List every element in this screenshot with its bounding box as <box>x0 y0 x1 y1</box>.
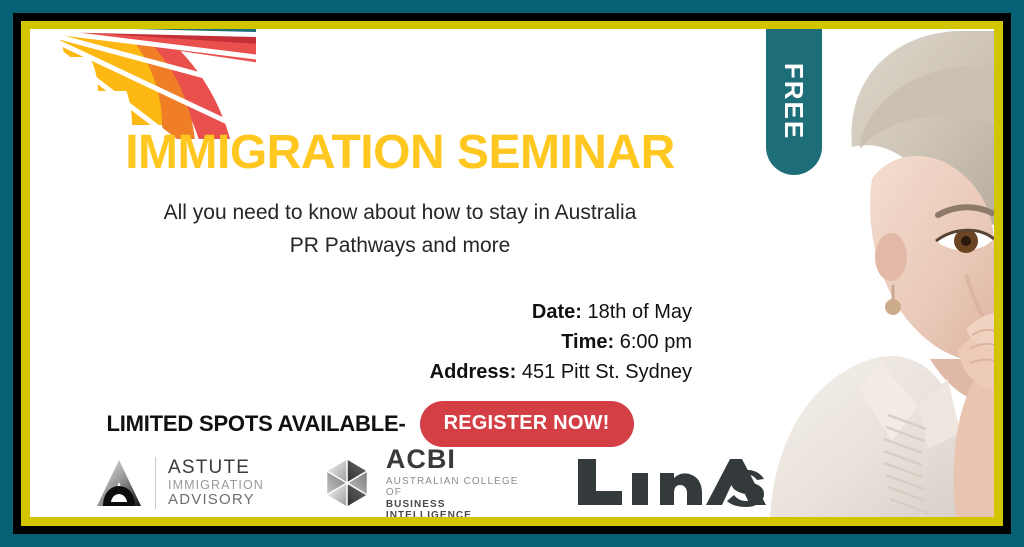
detail-row-address: Address: 451 Pitt St. Sydney <box>30 357 692 387</box>
free-badge-label: FREE <box>779 62 810 139</box>
event-details: Date: 18th of May Time: 6:00 pm Address:… <box>30 297 692 387</box>
detail-label-time: Time: <box>561 331 614 353</box>
poster-content: IMMIGRATION SEMINAR All you need to know… <box>30 29 770 517</box>
linas-wordmark <box>574 453 770 513</box>
poster-canvas: FREE IMMIGRATION SEMINAR All you need to… <box>30 29 994 517</box>
acbi-line-2: AUSTRALIAN COLLEGE OF <box>386 476 528 499</box>
acbi-hexagon-mark-icon <box>320 454 374 512</box>
detail-label-date: Date: <box>532 301 582 323</box>
subtitle: All you need to know about how to stay i… <box>30 197 770 262</box>
astute-wordmark: ASTUTE IMMIGRATION ADVISORY <box>155 457 264 509</box>
page-title: IMMIGRATION SEMINAR <box>30 129 770 177</box>
acbi-line-1: ACBI <box>386 444 528 475</box>
astute-line-1: ASTUTE <box>168 457 264 478</box>
astute-a-mark-icon <box>94 458 144 508</box>
detail-row-date: Date: 18th of May <box>30 297 692 327</box>
detail-value-date: 18th of May <box>587 301 692 323</box>
logo-linas <box>574 453 770 513</box>
subtitle-line-2: PR Pathways and more <box>30 230 770 263</box>
detail-label-address: Address: <box>430 361 517 383</box>
limited-spots-text: LIMITED SPOTS AVAILABLE- <box>106 411 405 437</box>
cta-row: LIMITED SPOTS AVAILABLE- REGISTER NOW! <box>30 401 710 447</box>
acbi-wordmark: ACBI AUSTRALIAN COLLEGE OF BUSINESS INTE… <box>386 444 528 517</box>
astute-line-3: ADVISORY <box>168 492 264 509</box>
linas-logotype-icon <box>574 453 770 509</box>
partner-logos: ASTUTE IMMIGRATION ADVISORY <box>70 447 770 517</box>
register-now-button[interactable]: REGISTER NOW! <box>420 401 634 447</box>
logo-acbi: ACBI AUSTRALIAN COLLEGE OF BUSINESS INTE… <box>320 444 528 517</box>
flyer-poster: FREE IMMIGRATION SEMINAR All you need to… <box>0 0 1024 547</box>
subtitle-line-1: All you need to know about how to stay i… <box>30 197 770 230</box>
logo-astute-immigration-advisory: ASTUTE IMMIGRATION ADVISORY <box>94 457 264 509</box>
free-badge: FREE <box>766 29 822 175</box>
detail-row-time: Time: 6:00 pm <box>30 327 692 357</box>
detail-value-address: 451 Pitt St. Sydney <box>522 361 692 383</box>
detail-value-time: 6:00 pm <box>620 331 692 353</box>
acbi-line-3: BUSINESS INTELLIGENCE <box>386 499 528 517</box>
astute-line-2: IMMIGRATION <box>168 478 264 492</box>
